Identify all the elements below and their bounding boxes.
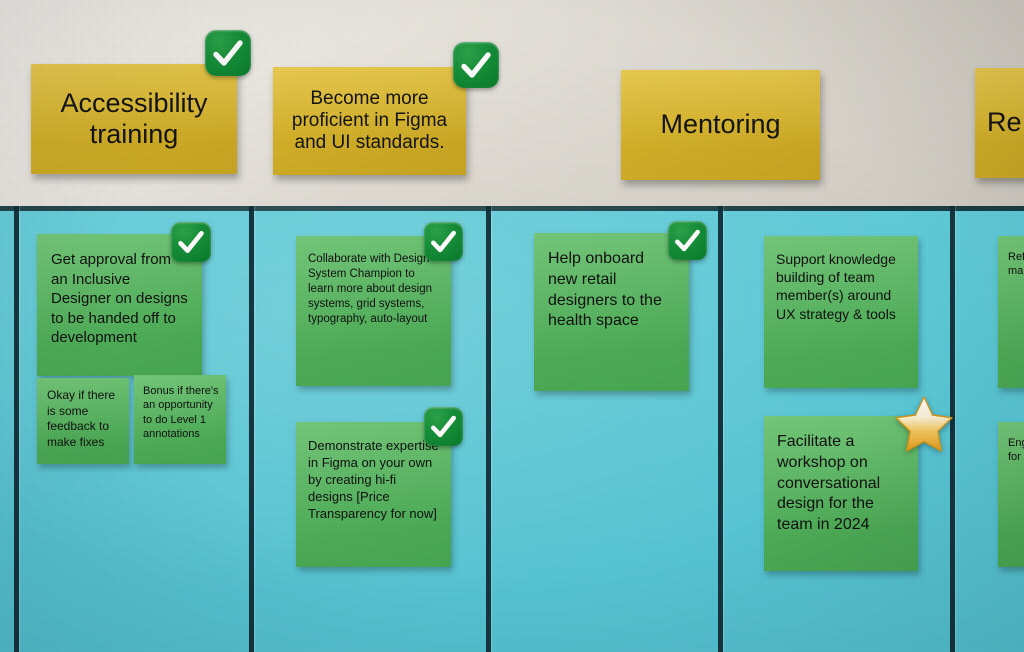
goal-note-text: Support knowledge building of team membe… bbox=[776, 250, 906, 323]
header-label: Re bbox=[975, 107, 1024, 138]
star-icon bbox=[893, 394, 955, 454]
header-label: Mentoring bbox=[652, 109, 788, 140]
header-note-figma-proficiency[interactable]: Become more proficient in Figma and UI s… bbox=[273, 67, 466, 175]
goal-note-bonus-level1-annotations[interactable]: Bonus if there's an opportunity to do Le… bbox=[134, 375, 226, 464]
goal-note-partial-top[interactable]: Ref tha tas res or a ma by res bbox=[998, 236, 1024, 388]
header-label: Accessibility training bbox=[31, 88, 237, 151]
goal-note-text: Help onboard new retail designers to the… bbox=[548, 249, 677, 332]
header-label: Become more proficient in Figma and UI s… bbox=[273, 88, 466, 154]
goal-note-text: Facilitate a workshop on conversational … bbox=[777, 432, 907, 536]
check-icon bbox=[205, 30, 251, 76]
goal-note-text: Demonstrate expertise in Figma on your o… bbox=[308, 438, 440, 522]
goal-note-okay-feedback[interactable]: Okay if there is some feedback to make f… bbox=[37, 378, 129, 464]
goal-note-text: Collaborate with Design System Champion … bbox=[308, 252, 439, 327]
header-note-accessibility-training[interactable]: Accessibility training bbox=[31, 64, 237, 174]
header-note-re-partial[interactable]: Re bbox=[975, 68, 1024, 178]
column-divider-3 bbox=[718, 206, 723, 652]
whiteboard-photo: Accessibility training Become more profi… bbox=[0, 0, 1024, 652]
goal-note-text: Ref tha tas res or a ma by res bbox=[1008, 250, 1024, 279]
goal-note-partial-bottom[interactable]: Eng PI1 and me the for me res bbox=[998, 422, 1024, 567]
column-divider-1 bbox=[249, 206, 254, 652]
check-icon bbox=[453, 42, 499, 88]
goal-note-text: Okay if there is some feedback to make f… bbox=[47, 388, 121, 450]
goal-note-support-knowledge-building[interactable]: Support knowledge building of team membe… bbox=[764, 236, 918, 388]
column-divider-0 bbox=[14, 206, 19, 652]
check-icon bbox=[424, 407, 463, 446]
check-icon bbox=[171, 222, 211, 262]
column-divider-2 bbox=[486, 206, 491, 652]
check-icon bbox=[668, 221, 707, 260]
header-note-mentoring[interactable]: Mentoring bbox=[621, 70, 820, 180]
goal-note-text: Bonus if there's an opportunity to do Le… bbox=[143, 384, 219, 441]
check-icon bbox=[424, 222, 463, 261]
goal-note-onboard-retail-designers[interactable]: Help onboard new retail designers to the… bbox=[534, 233, 689, 391]
goal-note-text: Eng PI1 and me the for me res bbox=[1008, 436, 1024, 465]
goal-note-text: Get approval from an Inclusive Designer … bbox=[51, 250, 188, 348]
